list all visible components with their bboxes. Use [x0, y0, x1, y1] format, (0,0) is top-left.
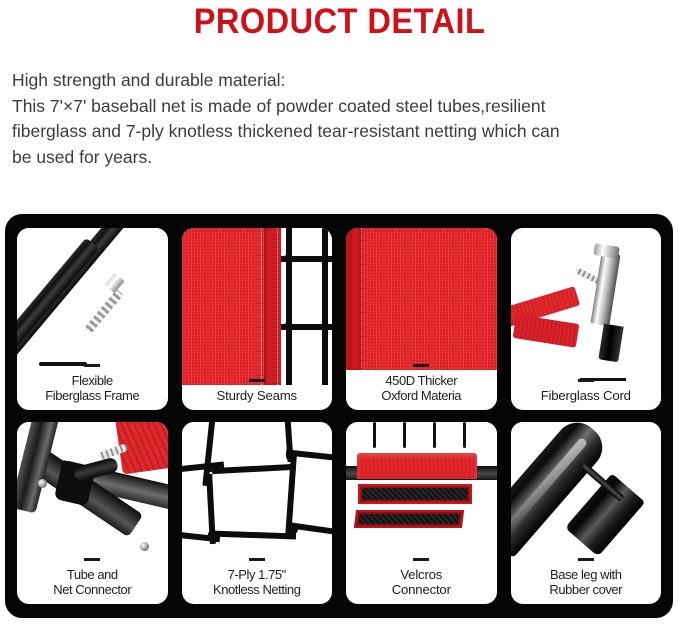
feature-caption: 450D Thicker Oxford Materia: [346, 370, 497, 410]
intro-paragraph: High strength and durable material: This…: [12, 68, 667, 170]
caption-dash: [84, 364, 100, 367]
caption-dash: [578, 379, 594, 382]
caption-line-2: Knotless Netting: [183, 582, 332, 597]
base-leg-photo: [511, 422, 662, 564]
feature-card-knotless-netting[interactable]: 7-Ply 1.75" Knotless Netting: [182, 422, 333, 604]
red-fabric-panel: [182, 228, 281, 385]
knotless-netting-photo: [182, 422, 333, 564]
feature-caption: 7-Ply 1.75" Knotless Netting: [182, 564, 333, 604]
caption-line-2: Net Connector: [18, 582, 167, 597]
caption-line-2: Rubber cover: [512, 582, 661, 597]
feature-caption: Flexible Fiberglass Frame: [17, 370, 168, 410]
stitch-line: [361, 228, 362, 370]
fiberglass-frame-photo: [17, 228, 168, 370]
fabric-hem: [264, 228, 281, 385]
rod-shadow: [39, 362, 87, 366]
caption-line-2: Oxford Materia: [347, 388, 496, 403]
hanging-cord: [403, 422, 406, 448]
oxford-material-photo: [346, 228, 497, 370]
net-vertical-line: [286, 228, 292, 385]
feature-caption: Tube and Net Connector: [17, 564, 168, 604]
velcros-connector-photo: [346, 422, 497, 564]
feature-caption: Velcros Connector: [346, 564, 497, 604]
velcro-strip-icon: [362, 488, 468, 500]
feature-card-fiberglass-cord[interactable]: Fiberglass Cord: [511, 228, 662, 410]
oxford-fabric-panel: [346, 228, 497, 370]
net-knot: [284, 254, 293, 263]
caption-dash: [249, 558, 265, 561]
caption-dash: [578, 558, 594, 561]
tube-net-connector-photo: [17, 422, 168, 564]
net-knot: [284, 322, 293, 331]
black-boot-icon: [598, 324, 623, 363]
bolt-icon: [38, 479, 47, 488]
stitch-line: [261, 228, 262, 385]
velcro-flap-lower: [354, 510, 465, 528]
caption-dash: [84, 558, 100, 561]
hanging-cord: [463, 422, 466, 448]
velcro-flap-upper: [358, 484, 472, 504]
caption-line-1: Flexible: [18, 373, 167, 388]
velcro-strip-icon: [358, 514, 460, 524]
feature-card-tube-and-net-connector[interactable]: Tube and Net Connector: [17, 422, 168, 604]
caption-line-1: Velcros: [347, 567, 496, 582]
caption-line-1: Sturdy Seams: [183, 388, 332, 403]
feature-caption: Base leg with Rubber cover: [511, 564, 662, 604]
net-knot: [208, 530, 217, 539]
chrome-sleeve-icon: [591, 252, 621, 326]
feature-card-sturdy-seams[interactable]: Sturdy Seams: [182, 228, 333, 410]
caption-line-1: Fiberglass Cord: [512, 388, 661, 403]
feature-grid: Flexible Fiberglass Frame: [17, 228, 661, 604]
detail-panel: Flexible Fiberglass Frame: [5, 214, 673, 618]
net-knot: [286, 452, 295, 461]
caption-line-1: Base leg with: [512, 567, 661, 582]
feature-card-base-leg-rubber-cover[interactable]: Base leg with Rubber cover: [511, 422, 662, 604]
net-horizontal-line: [209, 531, 295, 540]
chrome-cap-icon: [593, 243, 620, 259]
fiberglass-cord-photo: [511, 228, 662, 385]
intro-line-3: fiberglass and 7-ply knotless thickened …: [12, 119, 667, 145]
feature-caption: Sturdy Seams: [182, 385, 333, 410]
red-fabric-wrap: [357, 453, 477, 479]
pin-head-icon: [104, 273, 124, 294]
caption-line-1: 450D Thicker: [347, 373, 496, 388]
metal-pin-icon: [83, 289, 123, 335]
hanging-cord: [373, 422, 376, 448]
net-knot: [289, 525, 298, 534]
feature-card-velcros-connector[interactable]: Velcros Connector: [346, 422, 497, 604]
caption-line-2: Connector: [347, 582, 496, 597]
caption-dash: [413, 558, 429, 561]
hanging-cord: [433, 422, 436, 448]
caption-dash: [413, 364, 429, 367]
stitch-line: [277, 228, 278, 385]
sturdy-seams-photo: [182, 228, 333, 385]
intro-line-1: High strength and durable material:: [12, 68, 667, 94]
caption-line-1: 7-Ply 1.75": [183, 567, 332, 582]
page-title: PRODUCT DETAIL: [24, 0, 655, 39]
net-vertical-line: [322, 228, 328, 385]
feature-card-flexible-fiberglass-frame[interactable]: Flexible Fiberglass Frame: [17, 228, 168, 410]
intro-line-4: be used for years.: [12, 145, 667, 171]
caption-dash: [249, 379, 265, 382]
net-knot: [206, 463, 215, 472]
net-mesh-icon: [278, 228, 332, 385]
red-strap-lower: [512, 314, 579, 348]
caption-line-2: Fiberglass Frame: [18, 388, 167, 403]
caption-line-1: Tube and: [18, 567, 167, 582]
feature-caption: Fiberglass Cord: [511, 385, 662, 410]
bolt-icon: [140, 542, 149, 551]
feature-card-oxford-material[interactable]: 450D Thicker Oxford Materia: [346, 228, 497, 410]
intro-line-2: This 7'×7' baseball net is made of powde…: [12, 94, 667, 120]
